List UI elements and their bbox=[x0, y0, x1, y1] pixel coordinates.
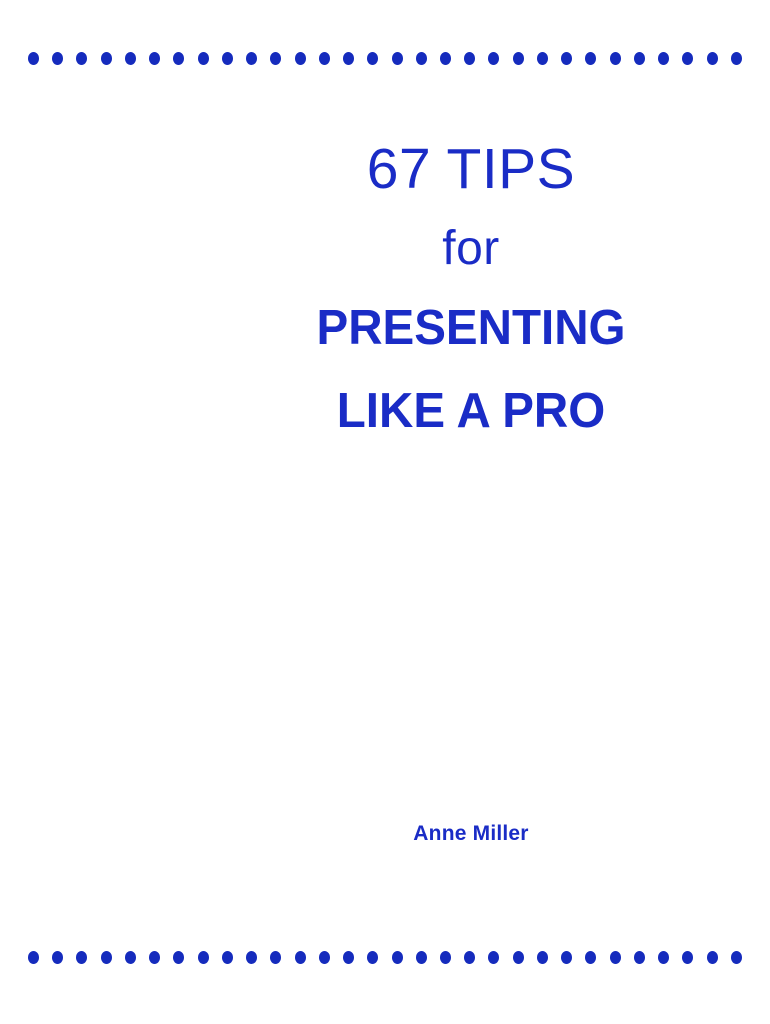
rule-dot bbox=[125, 52, 136, 65]
rule-dot bbox=[707, 951, 718, 964]
rule-dot bbox=[634, 951, 645, 964]
rule-dot bbox=[319, 52, 330, 65]
title-line-count: 67 TIPS bbox=[172, 136, 770, 202]
rule-dot bbox=[76, 52, 87, 65]
rule-dot bbox=[440, 52, 451, 65]
rule-dot bbox=[246, 951, 257, 964]
rule-dot bbox=[513, 52, 524, 65]
rule-dot bbox=[343, 52, 354, 65]
rule-dot bbox=[392, 951, 403, 964]
title-line-like-a-pro: LIKE A PRO bbox=[181, 381, 761, 441]
bottom-dotted-rule bbox=[0, 949, 770, 965]
rule-dot bbox=[731, 52, 742, 65]
rule-dot bbox=[658, 951, 669, 964]
book-cover-page: 67 TIPS for PRESENTING LIKE A PRO Anne M… bbox=[0, 0, 770, 1024]
rule-dot bbox=[707, 52, 718, 65]
rule-dot bbox=[488, 951, 499, 964]
rule-dot bbox=[149, 52, 160, 65]
rule-dot bbox=[222, 52, 233, 65]
rule-dot bbox=[731, 951, 742, 964]
rule-dot bbox=[76, 951, 87, 964]
rule-dot bbox=[682, 951, 693, 964]
rule-dot bbox=[585, 951, 596, 964]
rule-dot bbox=[634, 52, 645, 65]
title-line-connector: for bbox=[172, 220, 770, 278]
title-line-presenting: PRESENTING bbox=[181, 298, 761, 358]
rule-dot bbox=[125, 951, 136, 964]
rule-dot bbox=[440, 951, 451, 964]
rule-dot bbox=[537, 52, 548, 65]
rule-dot bbox=[28, 52, 39, 65]
rule-dot bbox=[367, 951, 378, 964]
rule-dot bbox=[52, 52, 63, 65]
rule-dot bbox=[561, 52, 572, 65]
rule-dot bbox=[416, 951, 427, 964]
rule-dot bbox=[173, 52, 184, 65]
rule-dot bbox=[101, 52, 112, 65]
rule-dot bbox=[149, 951, 160, 964]
rule-dot bbox=[198, 951, 209, 964]
rule-dot bbox=[270, 52, 281, 65]
rule-dot bbox=[416, 52, 427, 65]
rule-dot bbox=[270, 951, 281, 964]
rule-dot bbox=[610, 951, 621, 964]
rule-dot bbox=[173, 951, 184, 964]
rule-dot bbox=[246, 52, 257, 65]
rule-dot bbox=[295, 52, 306, 65]
rule-dot bbox=[52, 951, 63, 964]
rule-dot bbox=[198, 52, 209, 65]
rule-dot bbox=[392, 52, 403, 65]
rule-dot bbox=[101, 951, 112, 964]
rule-dot bbox=[561, 951, 572, 964]
rule-dot bbox=[610, 52, 621, 65]
cover-title-block: 67 TIPS for PRESENTING LIKE A PRO bbox=[0, 136, 770, 441]
rule-dot bbox=[28, 951, 39, 964]
rule-dot bbox=[682, 52, 693, 65]
rule-dot bbox=[319, 951, 330, 964]
rule-dot bbox=[585, 52, 596, 65]
rule-dot bbox=[537, 951, 548, 964]
rule-dot bbox=[513, 951, 524, 964]
rule-dot bbox=[295, 951, 306, 964]
top-dotted-rule bbox=[0, 50, 770, 66]
rule-dot bbox=[658, 52, 669, 65]
rule-dot bbox=[343, 951, 354, 964]
rule-dot bbox=[222, 951, 233, 964]
rule-dot bbox=[464, 951, 475, 964]
rule-dot bbox=[367, 52, 378, 65]
rule-dot bbox=[488, 52, 499, 65]
rule-dot bbox=[464, 52, 475, 65]
author-name: Anne Miller bbox=[0, 822, 770, 846]
